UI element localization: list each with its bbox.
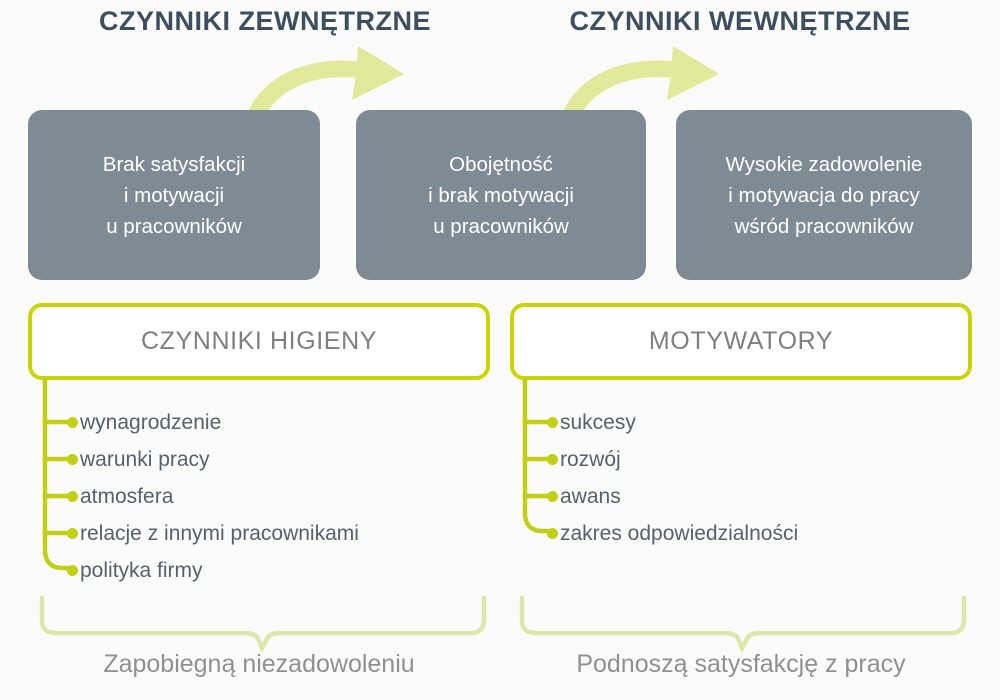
heading-internal-factors: CZYNNIKI WEWNĘTRZNE bbox=[510, 6, 970, 37]
state-box-line: wśród pracowników bbox=[686, 211, 962, 242]
list-item[interactable]: awans bbox=[560, 478, 798, 515]
list-item[interactable]: warunki pracy bbox=[80, 441, 359, 478]
bullet-dot-icon bbox=[67, 454, 78, 465]
list-item[interactable]: wynagrodzenie bbox=[80, 404, 359, 441]
bullet-dot-icon bbox=[67, 528, 78, 539]
list-item-label: warunki pracy bbox=[80, 448, 210, 472]
state-box-line: Brak satysfakcji bbox=[38, 149, 310, 180]
brace-left bbox=[42, 598, 484, 648]
list-item-label: zakres odpowiedzialności bbox=[560, 522, 798, 546]
state-box-line: Obojętność bbox=[366, 149, 636, 180]
caption-increase-satisfaction: Podnoszą satysfakcję z pracy bbox=[510, 650, 972, 679]
bullet-dot-icon bbox=[547, 528, 558, 539]
list-item[interactable]: polityka firmy bbox=[80, 552, 359, 589]
list-item[interactable]: sukcesy bbox=[560, 404, 798, 441]
state-box-indifference: Obojętność i brak motywacji u pracownikó… bbox=[356, 110, 646, 280]
heading-external-factors: CZYNNIKI ZEWNĘTRZNE bbox=[35, 6, 495, 37]
list-item-label: relacje z innymi pracownikami bbox=[80, 522, 359, 546]
list-item-label: polityka firmy bbox=[80, 559, 203, 583]
list-item-label: awans bbox=[560, 485, 621, 509]
list-item-label: sukcesy bbox=[560, 411, 636, 435]
category-box-hygiene-factors[interactable]: CZYNNIKI HIGIENY bbox=[28, 303, 490, 380]
category-title-motivators: MOTYWATORY bbox=[649, 327, 833, 356]
state-box-line: i brak motywacji bbox=[366, 180, 636, 211]
bullet-dot-icon bbox=[67, 417, 78, 428]
state-box-line: Wysokie zadowolenie bbox=[686, 149, 962, 180]
state-box-line: u pracowników bbox=[366, 211, 636, 242]
list-item[interactable]: atmosfera bbox=[80, 478, 359, 515]
bullet-dot-icon bbox=[547, 454, 558, 465]
list-item-label: atmosfera bbox=[80, 485, 173, 509]
state-box-dissatisfaction: Brak satysfakcji i motywacji u pracownik… bbox=[28, 110, 320, 280]
diagram-canvas: CZYNNIKI ZEWNĘTRZNE CZYNNIKI WEWNĘTRZNE … bbox=[0, 0, 1000, 700]
bullet-list-hygiene: wynagrodzenie warunki pracy atmosfera re… bbox=[80, 404, 359, 589]
list-item-label: rozwój bbox=[560, 448, 621, 472]
list-item[interactable]: rozwój bbox=[560, 441, 798, 478]
brace-right bbox=[522, 598, 964, 648]
state-box-line: u pracowników bbox=[38, 211, 310, 242]
list-item[interactable]: relacje z innymi pracownikami bbox=[80, 515, 359, 552]
bullet-dot-icon bbox=[67, 491, 78, 502]
bullet-dot-icon bbox=[547, 417, 558, 428]
tree-connector-right bbox=[525, 380, 548, 531]
state-box-line: i motywacja do pracy bbox=[686, 180, 962, 211]
bullet-dot-icon bbox=[547, 491, 558, 502]
state-box-high-satisfaction: Wysokie zadowolenie i motywacja do pracy… bbox=[676, 110, 972, 280]
bullet-dot-icon bbox=[67, 565, 78, 576]
list-item-label: wynagrodzenie bbox=[80, 411, 221, 435]
state-box-line: i motywacji bbox=[38, 180, 310, 211]
category-title-hygiene: CZYNNIKI HIGIENY bbox=[141, 327, 377, 356]
caption-prevent-dissatisfaction: Zapobiegną niezadowoleniu bbox=[28, 650, 490, 679]
category-box-motivators[interactable]: MOTYWATORY bbox=[510, 303, 972, 380]
tree-connector-left bbox=[45, 380, 68, 568]
bullet-list-motivators: sukcesy rozwój awans zakres odpowiedzial… bbox=[560, 404, 798, 552]
list-item[interactable]: zakres odpowiedzialności bbox=[560, 515, 798, 552]
